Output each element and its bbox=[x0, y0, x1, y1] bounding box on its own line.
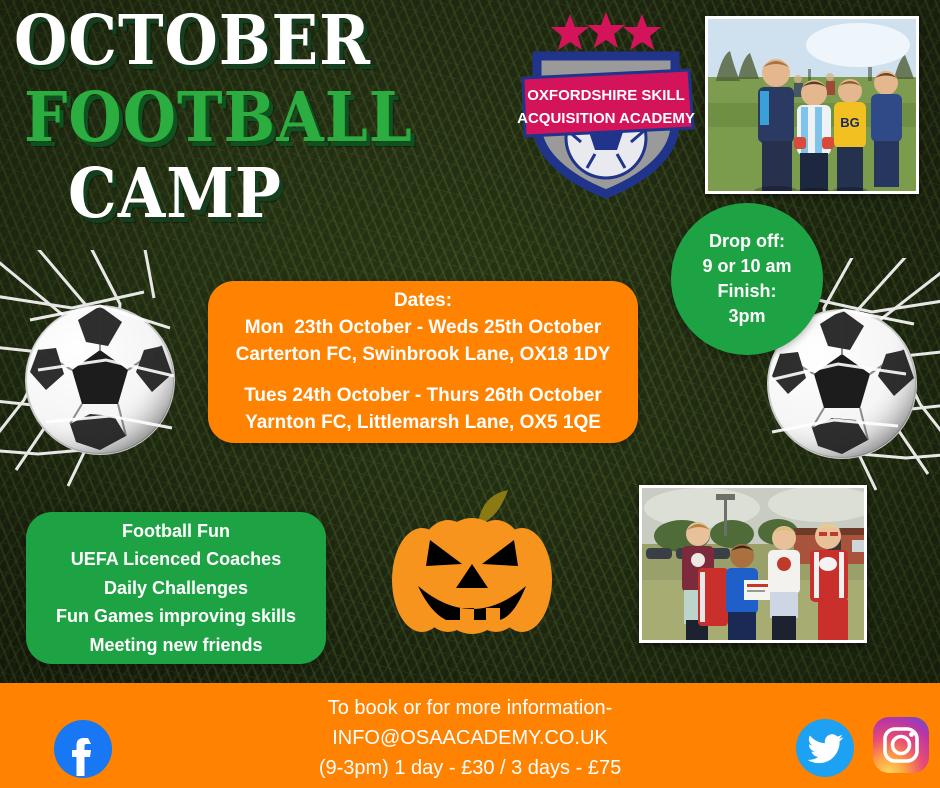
feature-item-3: Daily Challenges bbox=[104, 574, 248, 602]
twitter-icon[interactable] bbox=[795, 718, 855, 778]
drop-off-label: Drop off: bbox=[709, 229, 785, 254]
photo-children-football-kits-pitch: BG bbox=[705, 16, 919, 194]
finish-label: Finish: bbox=[718, 279, 777, 304]
headline-line-football: FOOTBALL bbox=[24, 85, 550, 152]
finish-time: 3pm bbox=[728, 304, 765, 329]
drop-off-time: 9 or 10 am bbox=[702, 254, 791, 279]
dates-line-1: Mon 23th October - Weds 25th October bbox=[245, 315, 601, 342]
feature-item-1: Football Fun bbox=[122, 517, 230, 545]
dates-panel: Dates: Mon 23th October - Weds 25th Octo… bbox=[208, 281, 638, 443]
photo-children-certificates-kits bbox=[639, 485, 867, 643]
features-panel: Football Fun UEFA Licenced Coaches Daily… bbox=[26, 512, 326, 664]
svg-text:BG: BG bbox=[840, 115, 860, 130]
dates-venue-2: Yarnton FC, Littlemarsh Lane, OX5 1QE bbox=[245, 410, 601, 437]
academy-crest-logo: OXFORDSHIRE SKILL ACQUISITION ACADEMY bbox=[513, 8, 699, 200]
poster-headline: OCTOBER FOOTBALL CAMP bbox=[10, 8, 550, 228]
headline-line-october: OCTOBER bbox=[14, 8, 550, 75]
crest-stars-icon bbox=[551, 12, 661, 50]
pumpkin-stem bbox=[478, 490, 508, 524]
dates-title: Dates: bbox=[394, 287, 452, 315]
drop-off-badge: Drop off: 9 or 10 am Finish: 3pm bbox=[671, 203, 823, 355]
feature-item-4: Fun Games improving skills bbox=[56, 602, 296, 630]
headline-line-camp: CAMP bbox=[68, 161, 550, 228]
crest-text-line1: OXFORDSHIRE SKILL bbox=[527, 87, 685, 104]
crest-text-line2: ACQUISITION ACADEMY bbox=[517, 110, 695, 127]
dates-line-2: Tues 24th October - Thurs 26th October bbox=[244, 383, 602, 410]
dates-venue-1: Carterton FC, Swinbrook Lane, OX18 1DY bbox=[236, 342, 611, 369]
instagram-icon[interactable] bbox=[872, 716, 930, 774]
october-football-camp-poster: OCTOBER FOOTBALL CAMP OXFORDSHIRE SKILL … bbox=[0, 0, 940, 788]
facebook-icon[interactable] bbox=[52, 718, 114, 780]
feature-item-5: Meeting new friends bbox=[89, 631, 262, 659]
feature-item-2: UEFA Licenced Coaches bbox=[71, 545, 281, 573]
football-in-goal-net-left bbox=[0, 250, 210, 490]
jack-o-lantern-pumpkin-icon bbox=[386, 488, 558, 646]
